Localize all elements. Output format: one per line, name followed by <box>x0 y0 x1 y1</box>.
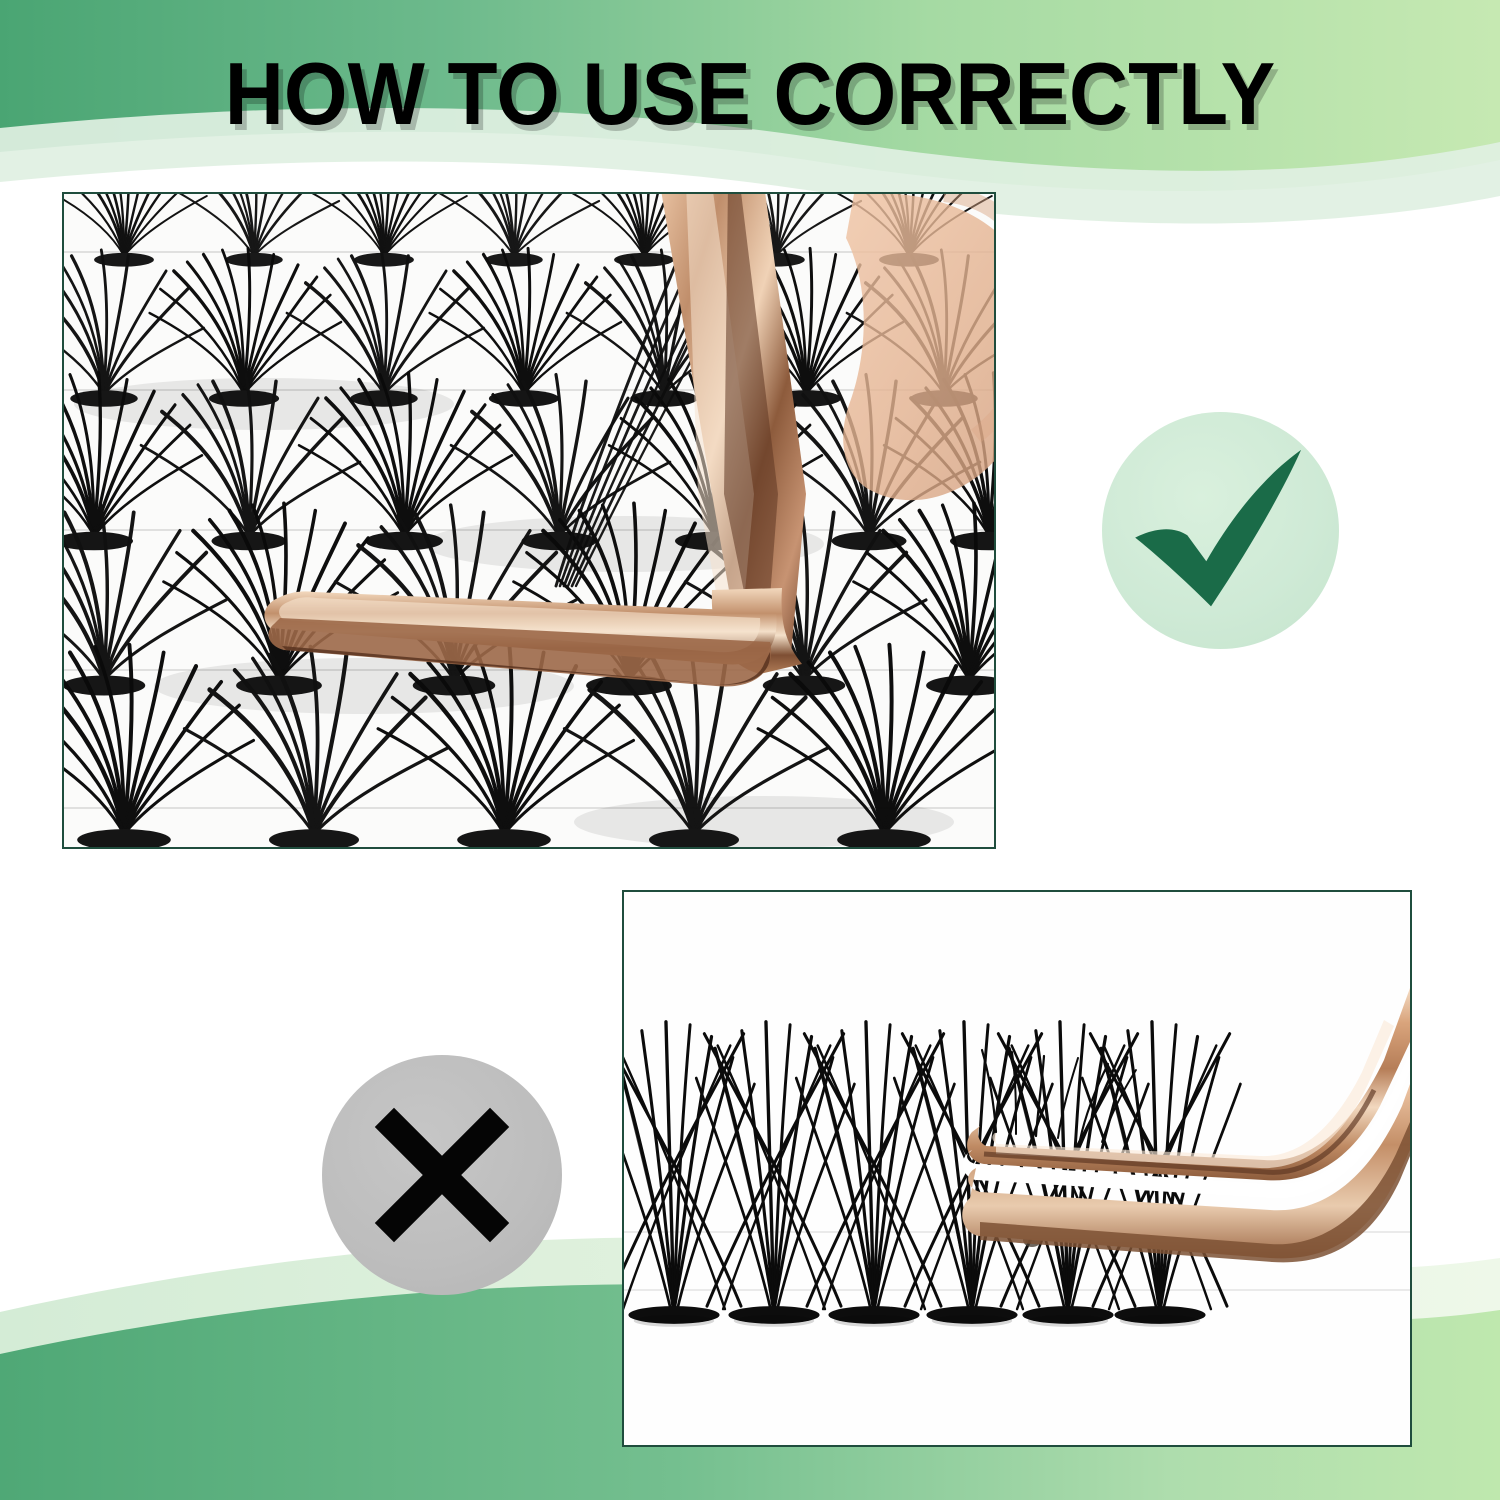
photo-incorrect-inner <box>624 892 1410 1445</box>
lash-row-side-view <box>624 892 1410 1445</box>
photo-correct-usage <box>62 192 996 849</box>
status-badge-correct <box>1102 412 1339 649</box>
header: HOW TO USE CORRECTLY <box>0 0 1500 200</box>
cross-icon <box>322 1055 562 1295</box>
hand-blur <box>843 194 994 500</box>
page-title: HOW TO USE CORRECTLY <box>53 48 1448 140</box>
instruction-graphic: HOW TO USE CORRECTLY <box>0 0 1500 1500</box>
photo-correct-inner <box>64 194 994 847</box>
check-icon <box>1102 412 1339 649</box>
lash-tray-top-view <box>64 194 994 847</box>
status-badge-incorrect <box>322 1055 562 1295</box>
photo-incorrect-usage <box>622 890 1412 1447</box>
